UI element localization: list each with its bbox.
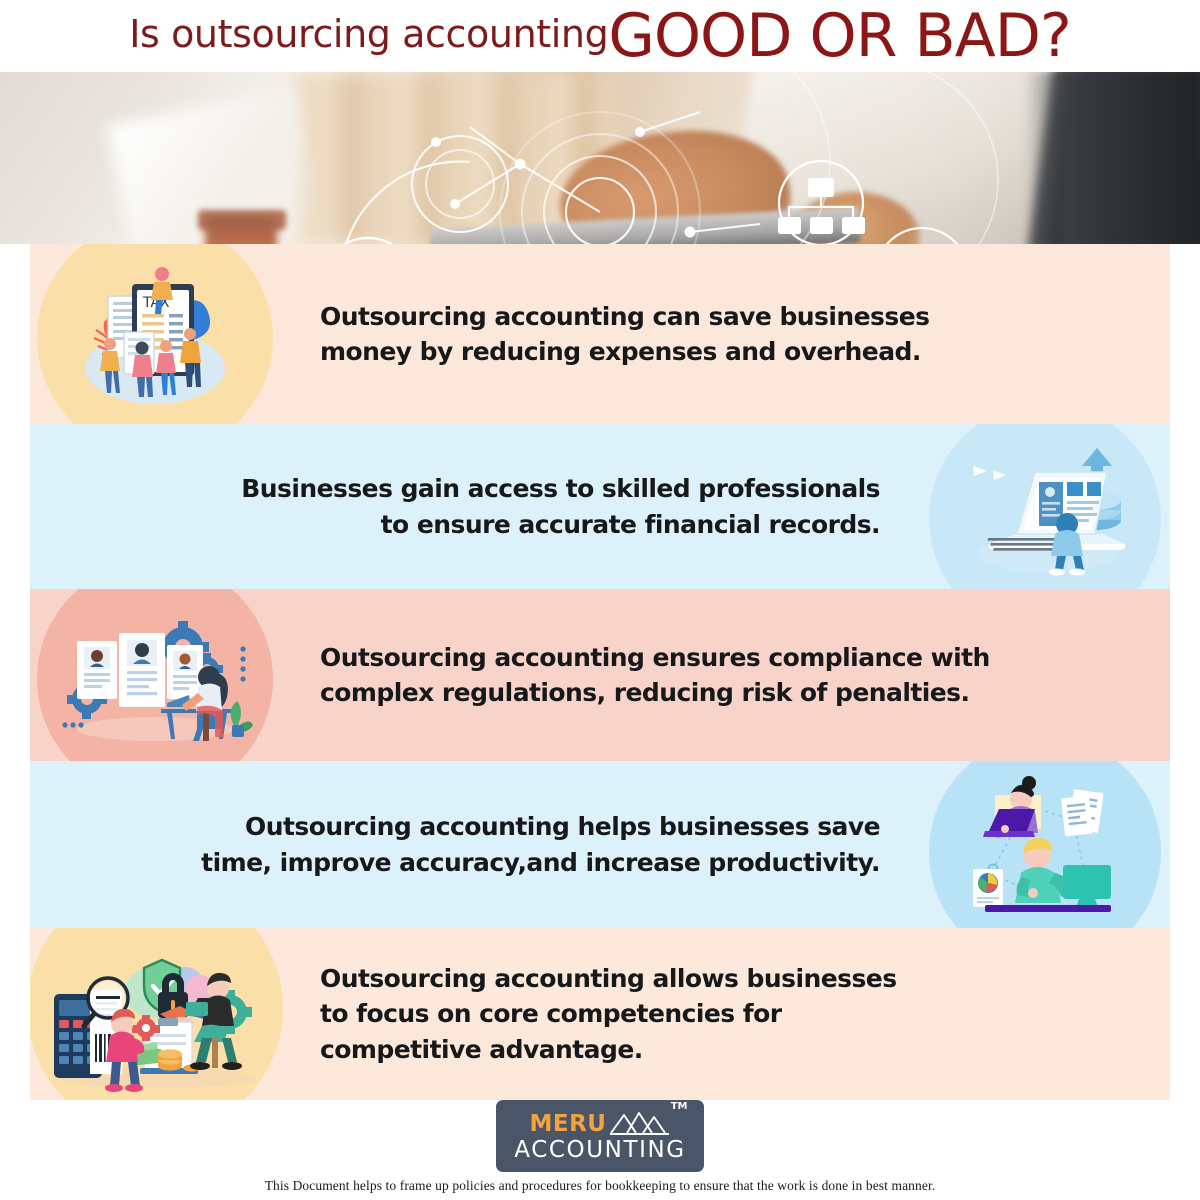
benefit-row-save-money: TAX xyxy=(30,244,1170,424)
pie-chart-document-icon xyxy=(973,869,1003,907)
page-footer: MERU TM ACCOUNTING This Document helps t… xyxy=(0,1100,1200,1200)
benefit-rows: TAX xyxy=(0,244,1200,1100)
benefit-line: Outsourcing accounting allows businesses xyxy=(320,964,897,993)
benefit-line: competitive advantage. xyxy=(320,1035,643,1064)
footer-caption: This Document helps to frame up policies… xyxy=(265,1178,936,1194)
logo-primary-name: MERU xyxy=(530,1113,607,1136)
page-header: Is outsourcing accounting GOOD OR BAD? xyxy=(0,0,1200,72)
benefit-text-core-competencies: Outsourcing accounting allows businesses… xyxy=(280,961,1170,1068)
benefit-row-core-competencies: Outsourcing accounting allows businesses… xyxy=(30,928,1170,1100)
benefit-text-skilled-professionals: Businesses gain access to skilled profes… xyxy=(30,471,920,542)
benefit-line: Outsourcing accounting can save business… xyxy=(320,302,929,331)
logo-secondary-name: ACCOUNTING xyxy=(514,1137,685,1163)
infographic-page: Is outsourcing accounting GOOD OR BAD? xyxy=(0,0,1200,1200)
profile-cards-gears-illustration xyxy=(30,589,280,761)
benefit-text-productivity: Outsourcing accounting helps businesses … xyxy=(30,809,920,880)
calculator-security-handshake-illustration xyxy=(30,928,280,1100)
benefit-text-compliance: Outsourcing accounting ensures complianc… xyxy=(280,640,1170,711)
page-title-lead: Is outsourcing accounting xyxy=(129,12,608,56)
plant-icon xyxy=(230,701,253,737)
person-figure xyxy=(983,776,1041,838)
benefit-line: Outsourcing accounting helps businesses … xyxy=(245,812,880,841)
hero-banner-image xyxy=(0,72,1200,244)
document-icon xyxy=(1061,789,1104,836)
ripple-rings-icon xyxy=(500,112,700,244)
benefit-row-productivity: Outsourcing accounting helps businesses … xyxy=(30,761,1170,928)
mobile-phone-icon xyxy=(876,228,968,244)
hero-network-overlay xyxy=(0,72,1200,244)
benefit-row-compliance: Outsourcing accounting ensures complianc… xyxy=(30,589,1170,761)
benefit-text-save-money: Outsourcing accounting can save business… xyxy=(280,299,1170,370)
page-title-strong: GOOD OR BAD? xyxy=(608,9,1070,63)
tax-clipboard-illustration: TAX xyxy=(30,244,280,424)
benefit-line: money by reducing expenses and overhead. xyxy=(320,337,921,366)
benefit-line: to focus on core competencies for xyxy=(320,999,782,1028)
benefit-line: time, improve accuracy,and increase prod… xyxy=(201,848,880,877)
network-circle-icon xyxy=(412,136,508,232)
remote-collaboration-illustration xyxy=(920,761,1170,928)
logo-top-row: MERU TM xyxy=(530,1110,671,1136)
benefit-row-skilled-professionals: Businesses gain access to skilled profes… xyxy=(30,424,1170,589)
benefit-line: Businesses gain access to skilled profes… xyxy=(241,474,880,503)
mountain-peaks-icon xyxy=(609,1110,671,1136)
logo-trademark: TM xyxy=(671,1101,688,1112)
org-chart-icon xyxy=(778,161,865,244)
meru-accounting-logo[interactable]: MERU TM ACCOUNTING xyxy=(496,1100,704,1172)
benefit-line: Outsourcing accounting ensures complianc… xyxy=(320,643,990,672)
laptop-dashboard-coins-illustration xyxy=(920,424,1170,589)
benefit-line: to ensure accurate financial records. xyxy=(381,510,880,539)
benefit-line: complex regulations, reducing risk of pe… xyxy=(320,678,969,707)
